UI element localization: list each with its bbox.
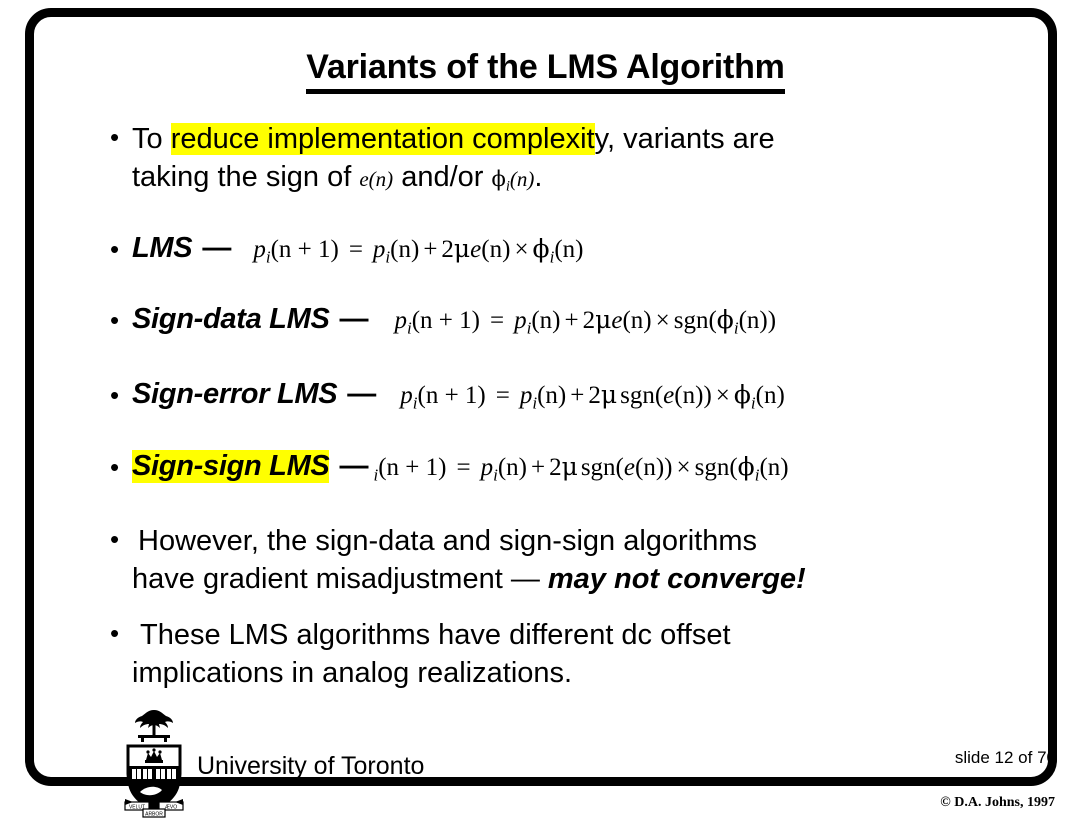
bullet-marker: •: [110, 378, 132, 412]
math-phi-arg: (n): [510, 167, 535, 191]
crest-motto-arbor: ARBOR: [145, 812, 163, 818]
bullet-note-dc-offset: • These LMS algorithms have different dc…: [110, 616, 731, 692]
eq-phi: ϕ: [533, 234, 550, 263]
inline-math-e-n: e(n): [359, 167, 393, 191]
eq-equals: =: [480, 307, 514, 334]
eq-coef: 2: [588, 382, 601, 409]
eq-rhs-arg: (n): [498, 454, 527, 481]
bullet-marker: •: [110, 450, 132, 484]
intro-line2-mid: and/or: [393, 161, 491, 193]
note-dc-offset-line1: These LMS algorithms have different dc o…: [132, 616, 731, 654]
eq-plus: +: [419, 236, 441, 263]
page-title: Variants of the LMS Algorithm: [0, 48, 1091, 94]
intro-line2-end: .: [534, 161, 542, 193]
copyright-notice: © D.A. Johns, 1997: [940, 795, 1055, 811]
eq-rhs-arg: (n): [537, 382, 566, 409]
eq-err-open: sgn(: [578, 454, 624, 481]
algorithm-dash: —: [329, 450, 368, 483]
eq-err-open: sgn(: [617, 382, 663, 409]
bullet-intro-body: To reduce implementation complexity, var…: [132, 120, 775, 205]
eq-lhs-base: p: [400, 382, 413, 409]
algorithm-name-sign-sign: Sign-sign LMS: [132, 450, 329, 483]
equation-sign-data: pi(n + 1)=pi(n)+2μe(n)×sgn(ϕi(n)): [369, 305, 777, 343]
bullet-intro: • To reduce implementation complexity, v…: [110, 120, 990, 205]
eq-phi: ϕ: [734, 380, 751, 409]
crest-motto-velut: VELUT: [129, 805, 145, 811]
equation-lms: pi(n + 1)=pi(n)+2μe(n)×ϕi(n): [231, 234, 583, 272]
algorithm-dash: —: [337, 378, 376, 411]
slide-number: slide 12 of 70: [955, 748, 1056, 768]
eq-rhs-base: p: [520, 382, 533, 409]
intro-line2-pre: taking the sign of: [132, 161, 359, 193]
algorithm-lms-row: LMS — pi(n + 1)=pi(n)+2μe(n)×ϕi(n): [132, 232, 583, 272]
eq-times: ×: [510, 236, 532, 263]
eq-phi-arg: (n): [739, 307, 768, 334]
eq-rhs-base: p: [481, 454, 494, 481]
eq-mu: μ: [601, 380, 617, 409]
eq-phi: ϕ: [738, 452, 755, 481]
eq-lhs-arg: (n + 1): [418, 382, 486, 409]
eq-mu: μ: [595, 305, 611, 334]
eq-lhs-arg: (n + 1): [412, 307, 480, 334]
eq-rhs-arg: (n): [531, 307, 560, 334]
crest-tree-icon: [135, 710, 173, 742]
university-crest-icon: VELUT ÆVO ARBOR: [112, 706, 196, 818]
eq-phi: ϕ: [717, 305, 734, 334]
eq-rhs-base: p: [373, 236, 386, 263]
eq-rhs-arg: (n): [390, 236, 419, 263]
eq-err-base: e: [611, 307, 622, 334]
bullet-intro-line1: To reduce implementation complexity, var…: [132, 120, 775, 158]
algorithm-sign-sign-row: Sign-sign LMS — i(n + 1)=pi(n)+2μsgn(e(n…: [132, 450, 789, 490]
note-converge-emphasis: may not converge!: [548, 563, 806, 595]
eq-lhs-base: p: [253, 236, 266, 263]
eq-plus: +: [527, 454, 549, 481]
eq-err-base: e: [470, 236, 481, 263]
crest-motto-aevo: ÆVO: [165, 805, 177, 811]
eq-phi-arg: (n): [756, 382, 785, 409]
algorithm-dash: —: [192, 232, 231, 265]
eq-phi-close: ): [768, 307, 776, 334]
algorithm-dash: —: [330, 303, 369, 336]
note-converge-line2: have gradient misadjustment — may not co…: [132, 560, 806, 598]
eq-err-close: ): [703, 382, 711, 409]
math-phi-glyph: ϕ: [492, 167, 506, 191]
eq-phi-arg: (n): [759, 454, 788, 481]
note-dc-offset-body: These LMS algorithms have different dc o…: [132, 616, 731, 692]
equation-sign-error: pi(n + 1)=pi(n)+2μsgn(e(n))×ϕi(n): [376, 380, 785, 418]
algorithm-name-sign-error: Sign-error LMS: [132, 378, 337, 411]
eq-err-arg: (n): [622, 307, 651, 334]
algorithm-name-lms: LMS: [132, 232, 192, 265]
eq-times: ×: [652, 307, 674, 334]
eq-lhs-arg: (n + 1): [378, 454, 446, 481]
footer-institution: University of Toronto: [197, 752, 424, 781]
eq-err-arg: (n): [481, 236, 510, 263]
eq-err-base: e: [624, 454, 635, 481]
intro-lead: To: [132, 123, 171, 155]
eq-coef: 2: [549, 454, 562, 481]
bullet-marker: •: [110, 120, 132, 154]
page-title-text: Variants of the LMS Algorithm: [306, 48, 784, 94]
bullet-algorithm-sign-sign: • Sign-sign LMS — i(n + 1)=pi(n)+2μsgn(e…: [110, 450, 789, 490]
eq-mu: μ: [562, 452, 578, 481]
eq-mu: μ: [454, 234, 470, 263]
algorithm-sign-data-row: Sign-data LMS — pi(n + 1)=pi(n)+2μe(n)×s…: [132, 303, 776, 343]
math-e-base: e: [359, 167, 368, 191]
bullet-marker: •: [110, 522, 132, 556]
eq-err-arg: (n): [635, 454, 664, 481]
eq-lhs-arg: (n + 1): [271, 236, 339, 263]
eq-coef: 2: [441, 236, 454, 263]
eq-plus: +: [566, 382, 588, 409]
intro-tail: y, variants are: [595, 123, 775, 155]
eq-phi-arg: (n): [554, 236, 583, 263]
note-converge-body: However, the sign-data and sign-sign alg…: [132, 522, 806, 598]
inline-math-phi-i-n: ϕi(n): [492, 167, 535, 191]
bullet-marker: •: [110, 303, 132, 337]
eq-phi-open: sgn(: [695, 454, 738, 481]
bullet-algorithm-sign-error: • Sign-error LMS — pi(n + 1)=pi(n)+2μsgn…: [110, 378, 785, 418]
eq-err-arg: (n): [674, 382, 703, 409]
bullet-marker: •: [110, 232, 132, 266]
note-converge-line1: However, the sign-data and sign-sign alg…: [132, 522, 806, 560]
bullet-algorithm-lms: • LMS — pi(n + 1)=pi(n)+2μe(n)×ϕi(n): [110, 232, 583, 272]
eq-phi-open: sgn(: [674, 307, 717, 334]
crest-crown-icon: [145, 748, 163, 763]
eq-times: ×: [672, 454, 694, 481]
note-converge-plain: have gradient misadjustment —: [132, 563, 548, 595]
intro-highlight: reduce implementation complexit: [171, 123, 595, 155]
eq-equals: =: [446, 454, 480, 481]
note-dc-offset-line2: implications in analog realizations.: [132, 654, 731, 692]
math-e-arg: (n): [369, 167, 394, 191]
algorithm-sign-error-row: Sign-error LMS — pi(n + 1)=pi(n)+2μsgn(e…: [132, 378, 785, 418]
eq-times: ×: [712, 382, 734, 409]
eq-plus: +: [560, 307, 582, 334]
bullet-note-converge: • However, the sign-data and sign-sign a…: [110, 522, 806, 598]
bullet-marker: •: [110, 616, 132, 650]
equation-sign-sign: i(n + 1)=pi(n)+2μsgn(e(n))×sgn(ϕi(n): [368, 452, 788, 490]
eq-err-base: e: [663, 382, 674, 409]
bullet-intro-line2: taking the sign of e(n) and/or ϕi(n).: [132, 158, 775, 205]
eq-coef: 2: [583, 307, 596, 334]
eq-rhs-base: p: [514, 307, 527, 334]
eq-equals: =: [486, 382, 520, 409]
bullet-algorithm-sign-data: • Sign-data LMS — pi(n + 1)=pi(n)+2μe(n)…: [110, 303, 776, 343]
algorithm-name-sign-data: Sign-data LMS: [132, 303, 330, 336]
eq-equals: =: [339, 236, 373, 263]
eq-lhs-base: p: [395, 307, 408, 334]
